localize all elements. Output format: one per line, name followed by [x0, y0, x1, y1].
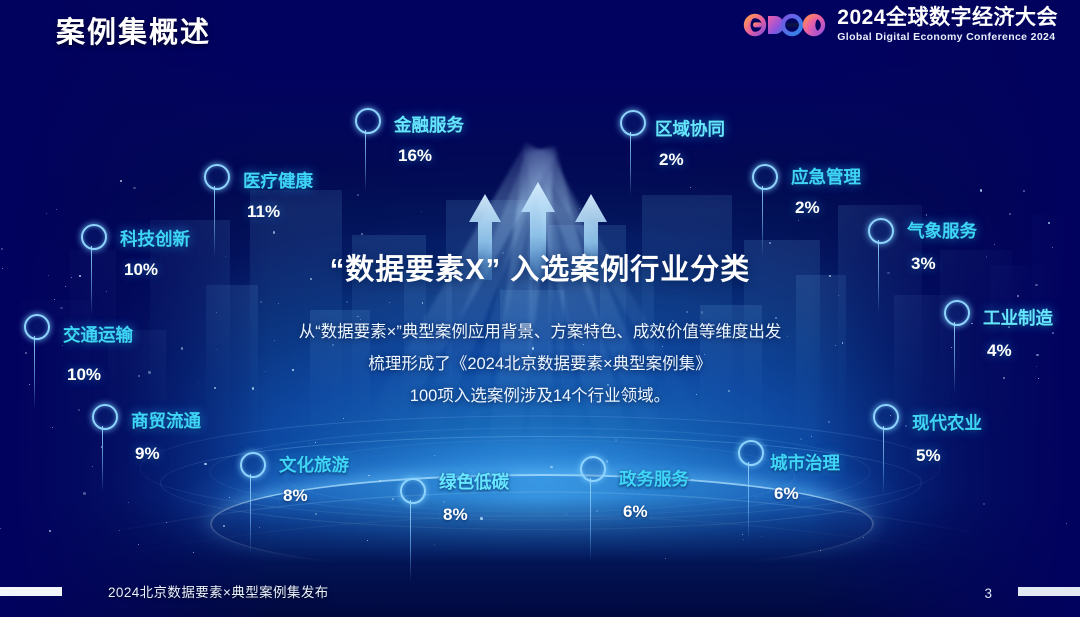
- description-text: 从“数据要素×”典型案例应用背景、方案特色、成效价值等维度出发梳理形成了《202…: [220, 316, 860, 413]
- marker-stem-icon: [878, 240, 879, 314]
- particle-dot: [1036, 354, 1038, 356]
- marker-ring-icon: [873, 404, 899, 430]
- footer-accent-bar-left: [0, 587, 62, 596]
- particle-dot: [905, 425, 907, 427]
- particle-dot: [926, 214, 928, 216]
- category-label: 工业制造: [983, 305, 1053, 330]
- gdec-logo-svg: [740, 10, 828, 40]
- conference-logo-text: 2024全球数字经济大会 Global Digital Economy Conf…: [837, 7, 1058, 43]
- category-value: 10%: [67, 365, 101, 385]
- category-label: 现代农业: [912, 410, 982, 435]
- marker-ring-icon: [24, 314, 50, 340]
- particle-dot: [193, 552, 194, 553]
- category-value: 8%: [443, 505, 468, 525]
- description-line: 100项入选案例涉及14个行业领域。: [220, 380, 860, 412]
- category-label: 气象服务: [907, 218, 977, 243]
- particle-dot: [92, 466, 93, 467]
- category-value: 6%: [774, 484, 799, 504]
- particle-dot: [54, 299, 55, 300]
- particle-dot: [690, 187, 691, 188]
- marker-ring-icon: [400, 478, 426, 504]
- chart-title: “数据要素X” 入选案例行业分类: [220, 246, 860, 288]
- category-value: 11%: [247, 202, 280, 222]
- particle-dot: [1052, 247, 1053, 248]
- marker-stem-icon: [214, 186, 215, 258]
- particle-dot: [315, 442, 316, 443]
- particle-dot: [273, 231, 275, 233]
- category-value: 10%: [124, 260, 158, 280]
- particle-dot: [887, 272, 889, 274]
- marker-ring-icon: [81, 224, 107, 250]
- particle-dot: [743, 539, 744, 540]
- particle-dot: [434, 544, 435, 545]
- particle-dot: [181, 347, 184, 350]
- marker-ring-icon: [240, 452, 266, 478]
- particle-dot: [52, 427, 53, 428]
- footer-accent-bar-right: [1018, 587, 1080, 596]
- particle-dot: [1052, 332, 1054, 334]
- particle-dot: [596, 510, 598, 512]
- category-label: 城市治理: [770, 450, 840, 475]
- particle-dot: [994, 244, 995, 245]
- particle-dot: [46, 213, 47, 214]
- category-label: 交通运输: [63, 322, 133, 347]
- slide-header: 案例集概述: [0, 0, 1080, 62]
- marker-stem-icon: [250, 474, 251, 554]
- particle-dot: [1038, 378, 1039, 379]
- particle-dot: [692, 479, 693, 480]
- category-label: 绿色低碳: [439, 469, 509, 494]
- particle-dot: [665, 558, 666, 559]
- category-label: 政务服务: [619, 466, 689, 491]
- particle-dot: [1009, 213, 1011, 215]
- category-label: 文化旅游: [279, 452, 349, 477]
- marker-ring-icon: [944, 300, 970, 326]
- category-label: 应急管理: [791, 164, 861, 189]
- category-value: 2%: [659, 150, 684, 170]
- particle-dot: [756, 496, 757, 497]
- particle-dot: [367, 540, 368, 541]
- category-value: 9%: [135, 444, 160, 464]
- particle-dot: [800, 438, 802, 440]
- marker-ring-icon: [204, 164, 230, 190]
- particle-dot: [606, 460, 609, 463]
- marker-stem-icon: [365, 130, 366, 192]
- category-label: 金融服务: [394, 112, 464, 137]
- presentation-slide: 案例集概述: [0, 0, 1080, 617]
- marker-stem-icon: [590, 478, 591, 562]
- conference-logo: 2024全球数字经济大会 Global Digital Economy Conf…: [740, 7, 1058, 43]
- marker-stem-icon: [954, 322, 955, 394]
- particle-dot: [361, 233, 362, 234]
- marker-ring-icon: [868, 218, 894, 244]
- particle-dot: [863, 537, 864, 538]
- particle-dot: [1066, 523, 1067, 524]
- category-value: 2%: [795, 198, 820, 218]
- marker-stem-icon: [102, 426, 103, 492]
- particle-dot: [566, 514, 567, 515]
- description-line: 梳理形成了《2024北京数据要素×典型案例集》: [220, 348, 860, 380]
- conference-name-en: Global Digital Economy Conference 2024: [837, 32, 1058, 43]
- particle-dot: [615, 439, 617, 441]
- slide-footer: 2024北京数据要素×典型案例集发布 3: [0, 565, 1080, 617]
- page-title: 案例集概述: [56, 9, 211, 51]
- particle-dot: [83, 492, 85, 494]
- particle-dot: [983, 503, 985, 505]
- description-line: 从“数据要素×”典型案例应用背景、方案特色、成效价值等维度出发: [220, 316, 860, 348]
- category-label: 区域协同: [655, 116, 725, 141]
- category-value: 5%: [916, 446, 941, 466]
- marker-stem-icon: [91, 246, 92, 316]
- marker-ring-icon: [620, 110, 646, 136]
- particle-dot: [148, 371, 150, 373]
- marker-stem-icon: [748, 462, 749, 540]
- marker-ring-icon: [752, 164, 778, 190]
- particle-dot: [811, 436, 812, 437]
- particle-dot: [120, 180, 122, 182]
- particle-dot: [480, 517, 483, 520]
- particle-dot: [357, 194, 359, 196]
- particle-dot: [0, 528, 1, 529]
- particle-dot: [259, 527, 260, 528]
- particle-dot: [980, 189, 982, 191]
- particle-dot: [60, 307, 63, 310]
- particle-dot: [315, 513, 318, 516]
- marker-stem-icon: [883, 426, 884, 494]
- particle-dot: [48, 275, 49, 276]
- particle-dot: [971, 323, 972, 324]
- marker-ring-icon: [355, 108, 381, 134]
- particle-dot: [133, 187, 135, 189]
- particle-dot: [421, 211, 422, 212]
- marker-stem-icon: [630, 132, 631, 196]
- conference-name-cn: 2024全球数字经济大会: [837, 7, 1058, 28]
- center-content: “数据要素X” 入选案例行业分类 从“数据要素×”典型案例应用背景、方案特色、成…: [220, 246, 860, 413]
- marker-ring-icon: [580, 456, 606, 482]
- category-value: 8%: [283, 486, 308, 506]
- category-label: 商贸流通: [131, 408, 201, 433]
- particle-dot: [166, 522, 167, 523]
- footer-label: 2024北京数据要素×典型案例集发布: [108, 581, 329, 601]
- particle-dot: [1003, 377, 1005, 379]
- category-value: 4%: [987, 341, 1012, 361]
- category-label: 医疗健康: [243, 168, 313, 193]
- page-number: 3: [984, 586, 992, 601]
- particle-dot: [1035, 284, 1037, 286]
- particle-dot: [761, 536, 762, 537]
- gdec-logo-icon: [740, 10, 828, 40]
- marker-ring-icon: [738, 440, 764, 466]
- particle-dot: [25, 352, 26, 353]
- category-value: 6%: [623, 502, 648, 522]
- marker-stem-icon: [34, 336, 35, 410]
- marker-ring-icon: [92, 404, 118, 430]
- category-value: 16%: [398, 146, 432, 166]
- category-label: 科技创新: [120, 226, 190, 251]
- category-value: 3%: [911, 254, 936, 274]
